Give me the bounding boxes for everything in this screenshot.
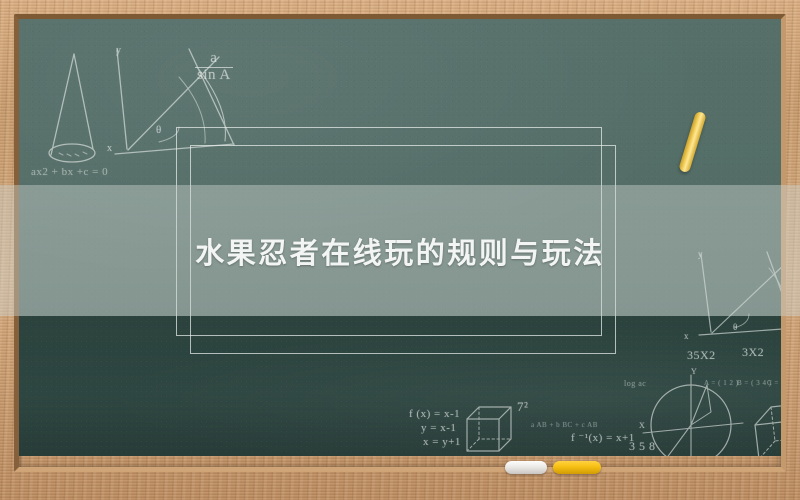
chalkboard-scene: y x θ a sin A ax2 + bx +c = 0 y x θ f (x… bbox=[0, 0, 800, 500]
multiply-35x2: 35X2 bbox=[687, 348, 716, 363]
multiply-3x2: 3X2 bbox=[742, 345, 764, 360]
fraction-numerator: a bbox=[195, 51, 233, 68]
matrix-c-text: C = ( 5 6 ) bbox=[767, 379, 781, 387]
axis-label-y-circle: Y bbox=[691, 367, 697, 376]
chalk-tray-icon bbox=[553, 461, 601, 474]
sum-row-2: 2 7 9 bbox=[629, 453, 656, 456]
eraser-icon bbox=[505, 461, 547, 474]
axis-label-x-circle: X bbox=[639, 421, 645, 430]
axis-label-x-right: x bbox=[684, 331, 689, 341]
axis-label-y-topleft: y bbox=[116, 45, 122, 56]
angle-label-right: θ bbox=[733, 322, 738, 332]
power-seven-squared: 7² bbox=[517, 399, 528, 415]
inverse-function-text: f ⁻¹(x) = x+1 bbox=[571, 431, 635, 444]
function-line-3: x = y+1 bbox=[423, 436, 461, 448]
cube-sketch-right bbox=[749, 397, 781, 456]
function-line-2: y = x-1 bbox=[421, 422, 456, 434]
cube-sketch-left bbox=[459, 401, 519, 456]
page-title: 水果忍者在线玩的规则与玩法 bbox=[0, 185, 800, 316]
fraction-denominator: sin A bbox=[195, 68, 233, 84]
fraction-a-over-sina-topleft: a sin A bbox=[195, 51, 233, 84]
axis-label-x-topleft: x bbox=[107, 143, 113, 154]
function-line-1: f (x) = x-1 bbox=[409, 408, 460, 420]
vector-note-text: a AB + b BC + c AB bbox=[531, 421, 598, 429]
angle-label-topleft: θ bbox=[156, 124, 162, 136]
quadratic-equation-text: ax2 + bx +c = 0 bbox=[31, 166, 108, 178]
sum-row-1: 3 5 8 bbox=[629, 439, 656, 454]
